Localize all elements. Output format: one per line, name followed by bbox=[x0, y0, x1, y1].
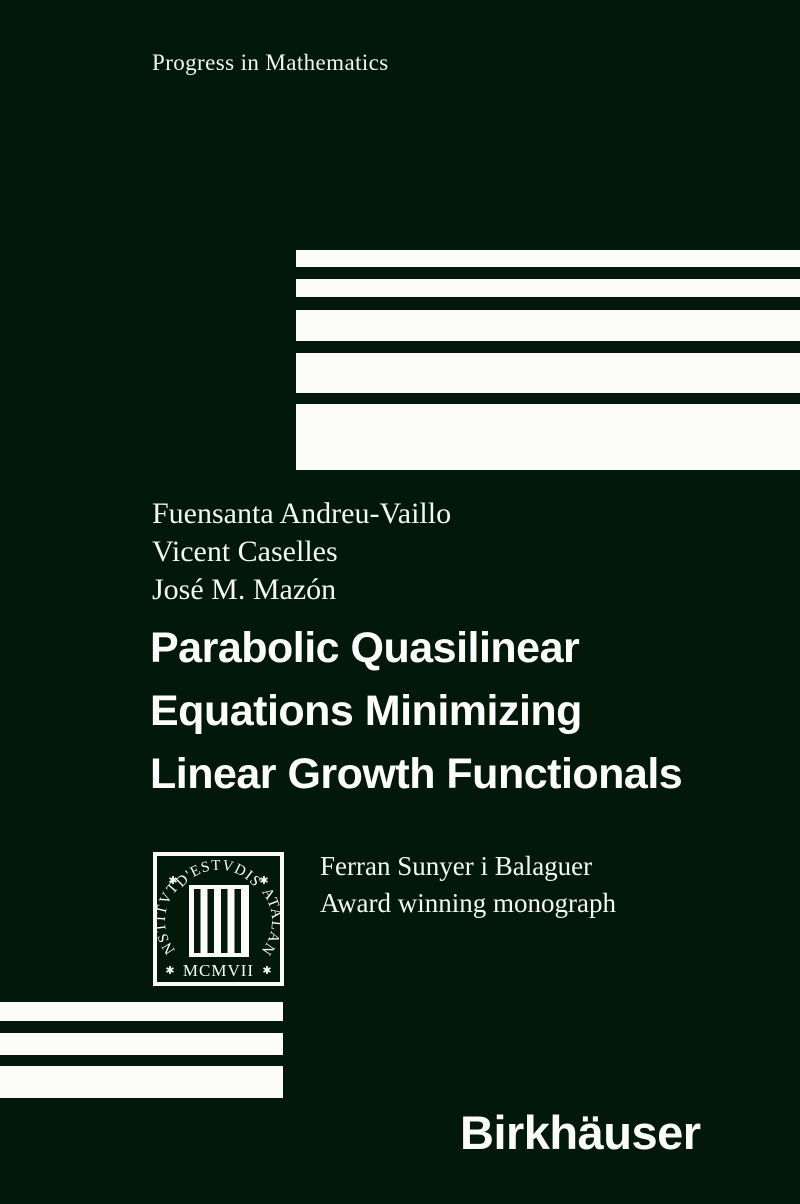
bottom-decor-bar-3 bbox=[0, 1066, 283, 1098]
top-decor-bar-2 bbox=[296, 279, 800, 297]
author-name: Vicent Caselles bbox=[152, 533, 451, 571]
title-line: Equations Minimizing bbox=[150, 680, 682, 743]
award-line: Award winning monograph bbox=[320, 885, 616, 922]
author-name: Fuensanta Andreu-Vaillo bbox=[152, 495, 451, 533]
bottom-decor-bar-2 bbox=[0, 1033, 283, 1055]
series-title: Progress in Mathematics bbox=[152, 50, 389, 76]
book-title: Parabolic Quasilinear Equations Minimizi… bbox=[150, 617, 682, 806]
top-decor-bar-1 bbox=[296, 250, 800, 267]
bottom-decor-bar-1 bbox=[0, 1002, 283, 1021]
author-name: José M. Mazón bbox=[152, 571, 451, 609]
svg-text:✱: ✱ bbox=[259, 875, 268, 887]
svg-text:INSTITVT: INSTITVT bbox=[153, 852, 183, 957]
top-decor-bar-3 bbox=[296, 310, 800, 341]
institut-destudis-catalans-seal-icon: D'ESTVDIS INSTITVT CATALANS MCMVII ✱ ✱ ✱… bbox=[153, 852, 284, 986]
title-line: Parabolic Quasilinear bbox=[150, 617, 682, 680]
title-line: Linear Growth Functionals bbox=[150, 743, 682, 806]
book-cover: Progress in Mathematics Fuensanta Andreu… bbox=[0, 0, 800, 1204]
svg-text:✱: ✱ bbox=[262, 965, 271, 977]
award-block: Ferran Sunyer i Balaguer Award winning m… bbox=[320, 848, 616, 922]
author-list: Fuensanta Andreu-Vaillo Vicent Caselles … bbox=[152, 495, 451, 609]
svg-text:✱: ✱ bbox=[165, 965, 174, 977]
top-decor-bar-4 bbox=[296, 353, 800, 393]
svg-text:MCMVII: MCMVII bbox=[183, 961, 254, 980]
award-line: Ferran Sunyer i Balaguer bbox=[320, 848, 616, 885]
top-decor-bar-5 bbox=[296, 404, 800, 470]
svg-text:✱: ✱ bbox=[168, 875, 177, 887]
publisher-wordmark: Birkhäuser bbox=[460, 1105, 701, 1160]
